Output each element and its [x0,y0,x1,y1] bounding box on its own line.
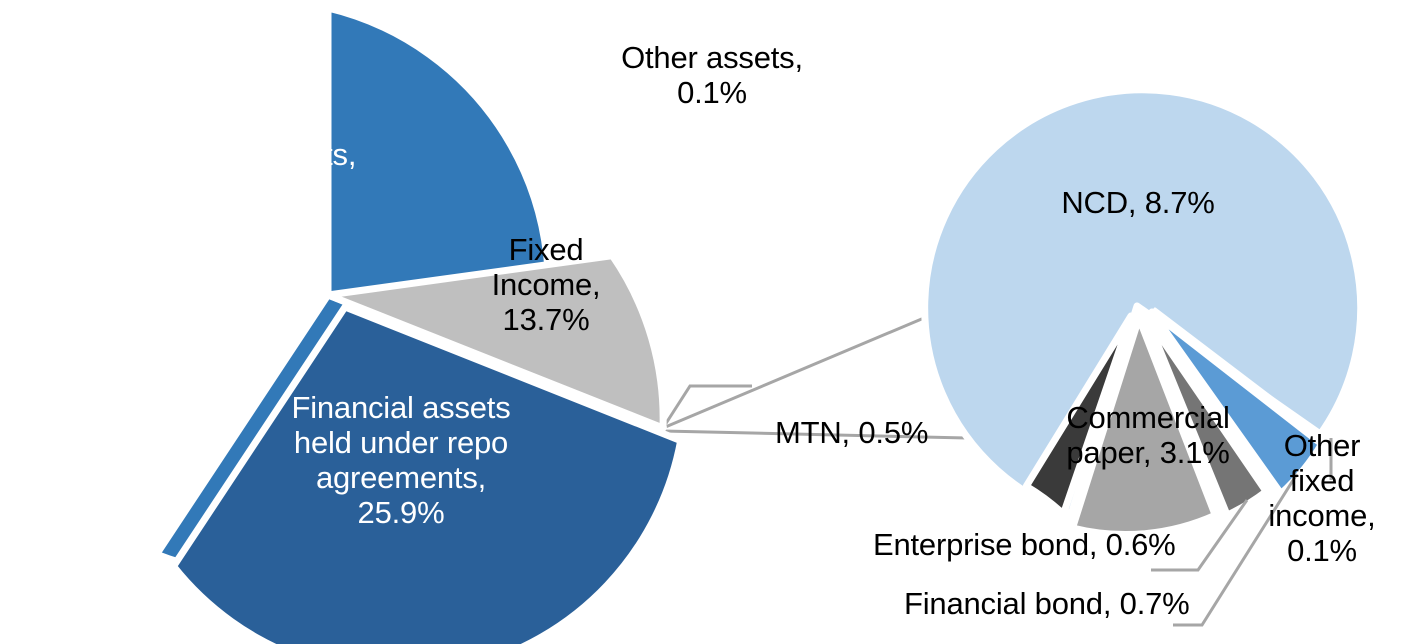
label-repo-agreements: Financial assets held under repo agreeme… [256,390,546,530]
label-commercial-paper: Commercial paper, 3.1% [1042,400,1254,470]
label-ncd: NCD, 8.7% [1035,185,1241,220]
label-other-fixed-income: Other fixed income, 0.1% [1252,428,1392,568]
chart-canvas: Bank deposits, 60.3% Fixed Income, 13.7%… [0,0,1404,644]
label-other-assets: Other assets, 0.1% [592,40,832,110]
label-enterprise-bond: Enterprise bond, 0.6% [873,527,1233,562]
label-fixed-income: Fixed Income, 13.7% [470,232,622,337]
label-bank-deposits: Bank deposits, 60.3% [126,137,386,207]
label-mtn: MTN, 0.5% [775,415,965,450]
label-financial-bond: Financial bond, 0.7% [904,586,1254,621]
